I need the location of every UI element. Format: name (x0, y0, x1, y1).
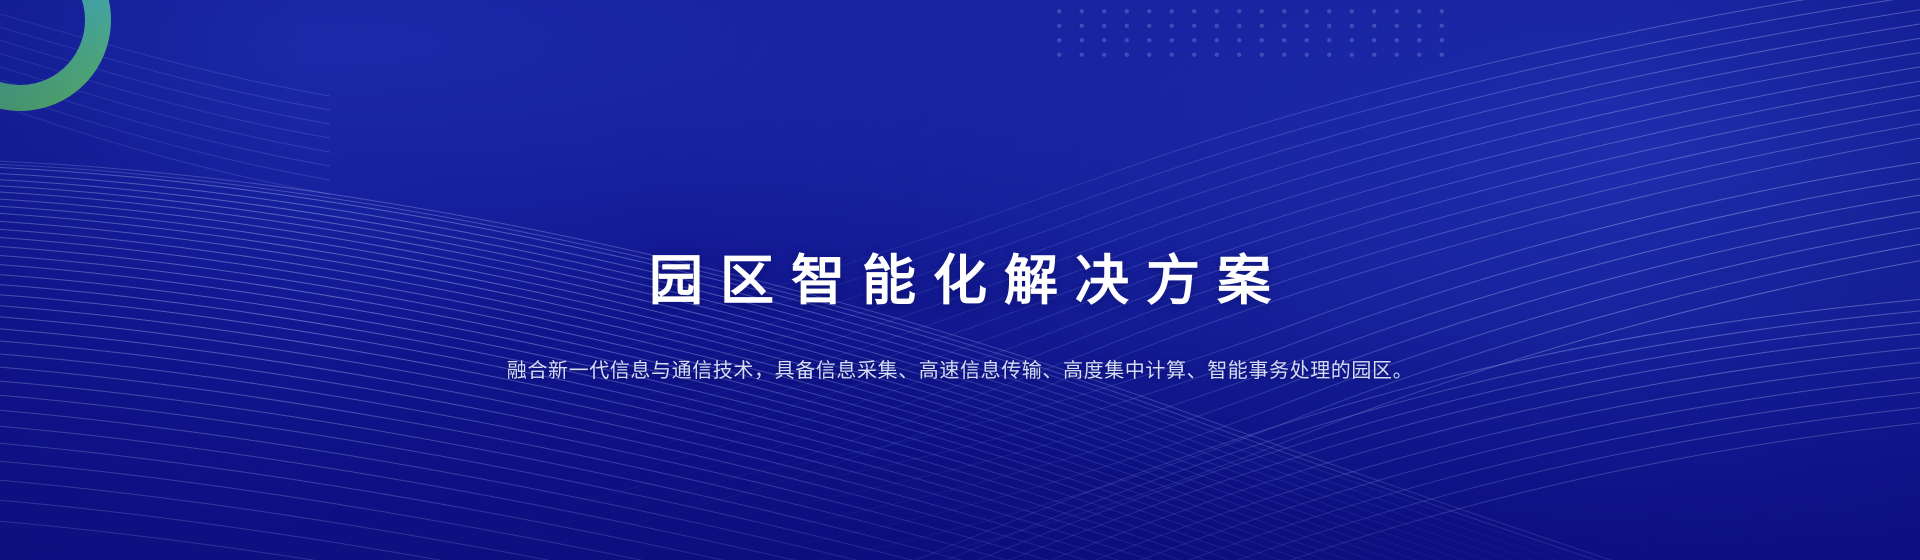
banner-title: 园区智能化解决方案 (632, 250, 1288, 312)
hero-banner: 园区智能化解决方案 融合新一代信息与通信技术，具备信息采集、高速信息传输、高度集… (0, 0, 1920, 560)
banner-subtitle: 融合新一代信息与通信技术，具备信息采集、高速信息传输、高度集中计算、智能事务处理… (507, 356, 1413, 386)
banner-content: 园区智能化解决方案 融合新一代信息与通信技术，具备信息采集、高速信息传输、高度集… (0, 0, 1920, 560)
